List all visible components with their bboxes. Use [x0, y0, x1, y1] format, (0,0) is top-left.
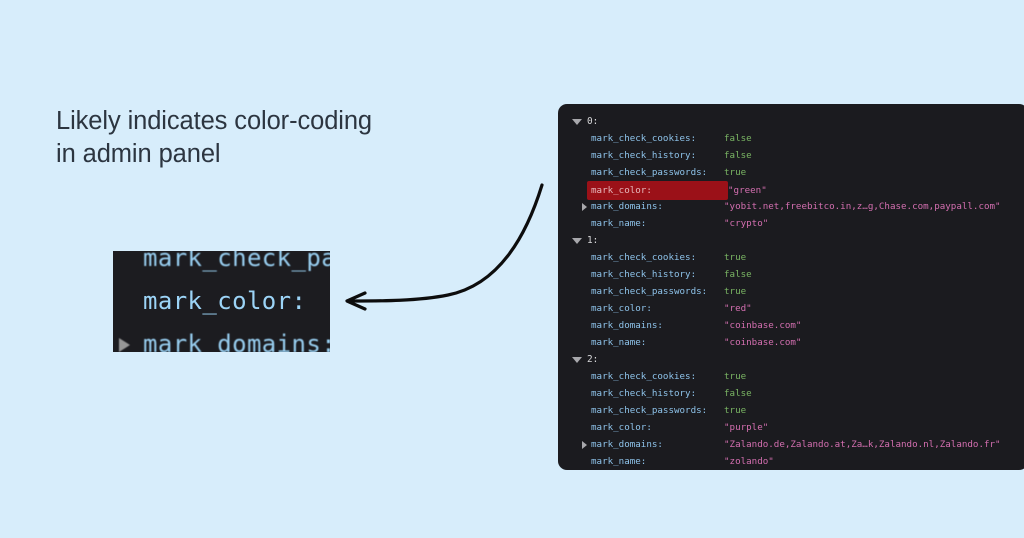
object-group-index: 2:	[587, 354, 598, 365]
chevron-down-icon[interactable]	[572, 238, 582, 244]
property-key: mark_check_passwords:	[591, 283, 724, 300]
property-row[interactable]: mark_name:"crypto"	[558, 215, 1024, 232]
magnifier-inset: mark_check_pas mark_color: mark_domains:	[113, 251, 330, 352]
chevron-right-icon[interactable]	[582, 203, 587, 211]
object-group-header[interactable]: 0:	[558, 113, 1024, 130]
property-key: mark_color:	[591, 419, 724, 436]
property-value[interactable]: false	[724, 130, 752, 147]
property-row[interactable]: mark_check_cookies:true	[558, 368, 1024, 385]
property-row[interactable]: mark_check_passwords:true	[558, 164, 1024, 181]
property-value[interactable]: "green"	[728, 182, 767, 199]
object-group-header[interactable]: 1:	[558, 232, 1024, 249]
property-key: mark_name:	[591, 334, 724, 351]
property-row[interactable]: mark_domains:"yobit.net,freebitco.in,z…g…	[558, 198, 1024, 215]
property-value[interactable]: true	[724, 368, 746, 385]
property-value[interactable]: "zolando"	[724, 453, 774, 470]
property-key: mark_check_cookies:	[591, 249, 724, 266]
property-key: mark_check_history:	[591, 266, 724, 283]
property-row[interactable]: mark_check_history:false	[558, 147, 1024, 164]
curved-callout-arrow	[330, 175, 570, 320]
devtools-object-inspector[interactable]: 0:mark_check_cookies:falsemark_check_his…	[558, 104, 1024, 470]
object-group-index: 0:	[587, 116, 598, 127]
property-row[interactable]: mark_check_cookies:true	[558, 249, 1024, 266]
property-value[interactable]: "coinbase.com"	[724, 334, 801, 351]
property-key: mark_check_passwords:	[591, 164, 724, 181]
property-value[interactable]: false	[724, 266, 752, 283]
property-key: mark_domains:	[591, 198, 724, 215]
magnifier-row-label: mark_color:	[143, 287, 306, 315]
property-key: mark_domains:	[591, 317, 724, 334]
property-row[interactable]: mark_check_passwords:true	[558, 402, 1024, 419]
property-value[interactable]: false	[724, 385, 752, 402]
property-key: mark_check_history:	[591, 147, 724, 164]
chevron-right-icon	[119, 338, 130, 352]
property-row[interactable]: mark_check_history:false	[558, 266, 1024, 283]
annotation-note: Likely indicates color-coding in admin p…	[56, 105, 456, 171]
property-key: mark_check_history:	[591, 385, 724, 402]
property-value[interactable]: true	[724, 402, 746, 419]
property-value[interactable]: "purple"	[724, 419, 768, 436]
object-tree: 0:mark_check_cookies:falsemark_check_his…	[558, 104, 1024, 470]
property-row[interactable]: mark_check_history:false	[558, 385, 1024, 402]
magnifier-row: mark_color:	[113, 280, 330, 323]
magnifier-row: mark_domains:	[113, 323, 330, 352]
property-key: mark_name:	[591, 215, 724, 232]
magnifier-rows: mark_check_pas mark_color: mark_domains:	[113, 251, 330, 352]
property-value[interactable]: true	[724, 164, 746, 181]
property-value[interactable]: true	[724, 283, 746, 300]
object-group-index: 1:	[587, 235, 598, 246]
property-row[interactable]: mark_color:"red"	[558, 300, 1024, 317]
property-value[interactable]: "crypto"	[724, 215, 768, 232]
magnifier-row-label: mark_domains:	[143, 330, 330, 352]
property-value[interactable]: "Zalando.de,Zalando.at,Za…k,Zalando.nl,Z…	[724, 436, 1001, 453]
property-key: mark_color:	[591, 300, 724, 317]
screenshot-canvas: Likely indicates color-coding in admin p…	[0, 0, 1024, 538]
property-value[interactable]: false	[724, 147, 752, 164]
property-key: mark_domains:	[591, 436, 724, 453]
property-row[interactable]: mark_check_cookies:false	[558, 130, 1024, 147]
property-value[interactable]: true	[724, 249, 746, 266]
property-row[interactable]: mark_name:"coinbase.com"	[558, 334, 1024, 351]
magnifier-row-label: mark_check_pas	[143, 251, 330, 272]
property-key: mark_check_passwords:	[591, 402, 724, 419]
chevron-down-icon[interactable]	[572, 357, 582, 363]
property-row-highlighted[interactable]: mark_color:"green"	[558, 181, 1024, 198]
chevron-down-icon[interactable]	[572, 119, 582, 125]
property-key: mark_check_cookies:	[591, 368, 724, 385]
property-row[interactable]: mark_check_passwords:true	[558, 283, 1024, 300]
property-row[interactable]: mark_name:"zolando"	[558, 453, 1024, 470]
property-value[interactable]: "yobit.net,freebitco.in,z…g,Chase.com,pa…	[724, 198, 1001, 215]
property-row[interactable]: mark_color:"purple"	[558, 419, 1024, 436]
property-value[interactable]: "red"	[724, 300, 752, 317]
magnifier-row: mark_check_pas	[113, 251, 330, 280]
object-group-header[interactable]: 2:	[558, 351, 1024, 368]
property-value[interactable]: "coinbase.com"	[724, 317, 801, 334]
chevron-right-icon[interactable]	[582, 441, 587, 449]
property-key: mark_check_cookies:	[591, 130, 724, 147]
property-row[interactable]: mark_domains:"Zalando.de,Zalando.at,Za…k…	[558, 436, 1024, 453]
property-key: mark_name:	[591, 453, 724, 470]
property-row[interactable]: mark_domains:"coinbase.com"	[558, 317, 1024, 334]
